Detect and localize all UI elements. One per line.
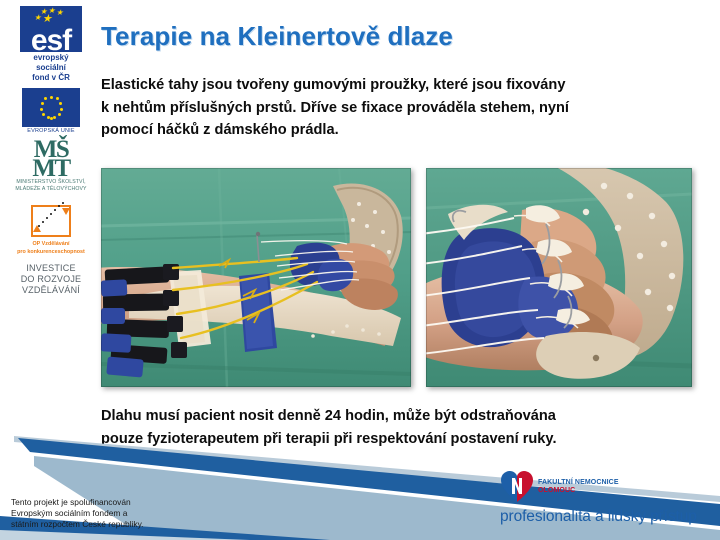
investice-line3: VZDĚLÁVÁNÍ: [8, 285, 94, 296]
intro-line-1: Elastické tahy jsou tvořeny gumovými pro…: [101, 74, 591, 97]
funding-line-3: státním rozpočtem České republiky.: [11, 519, 144, 530]
eu-caption: EVROPSKÁ UNIE: [8, 128, 94, 134]
msmt-caption-line2: MLÁDEŽE A TĚLOVÝCHOVY: [8, 186, 94, 192]
photo-kleinert-splint-hand-detail: [426, 168, 692, 387]
intro-line-3: pomocí háčků z dámského prádla.: [101, 119, 591, 142]
msmt-monogram-icon: MŠ MT: [18, 140, 84, 178]
page-title: Terapie na Kleinertově dlaze: [101, 21, 453, 52]
esf-logo: ★ ★ ★ ★ ★ esf evropský sociální fond v Č…: [8, 6, 94, 82]
closing-line-1: Dlahu musí pacient nosit denně 24 hodin,…: [101, 405, 681, 428]
photo-left-illustration: [101, 168, 411, 387]
closing-line-2: pouze fyzioterapeutem při terapii při re…: [101, 428, 681, 451]
esf-flag-icon: ★ ★ ★ ★ ★ esf: [20, 6, 82, 52]
investice-text-block: INVESTICE DO ROZVOJE VZDĚLÁVÁNÍ: [8, 263, 94, 296]
hospital-logo: FAKULTNÍ NEMOCNICE OLOMOUC profesionalit…: [500, 470, 710, 526]
investice-line1: INVESTICE: [8, 263, 94, 274]
eu-stars-circle: [39, 96, 63, 120]
eu-logo: EVROPSKÁ UNIE: [8, 88, 94, 134]
intro-line-2: k nehtům příslušných prstů. Dříve se fix…: [101, 97, 591, 120]
esf-caption-line3: fond v ČR: [8, 73, 94, 82]
msmt-logo: MŠ MT MINISTERSTVO ŠKOLSTVÍ, MLÁDEŽE A T…: [8, 140, 94, 192]
msmt-mark-line2: MT: [18, 159, 84, 178]
slide-canvas: ★ ★ ★ ★ ★ esf evropský sociální fond v Č…: [0, 0, 720, 540]
sponsor-logo-column: ★ ★ ★ ★ ★ esf evropský sociální fond v Č…: [8, 6, 94, 296]
closing-paragraph: Dlahu musí pacient nosit denně 24 hodin,…: [101, 405, 681, 451]
intro-paragraph: Elastické tahy jsou tvořeny gumovými pro…: [101, 74, 591, 142]
funding-line-1: Tento projekt je spolufinancován: [11, 497, 144, 508]
swoosh-corner-light: [0, 530, 250, 540]
opvk-logo: OP Vzdělávání pro konkurenceschopnost: [8, 199, 94, 256]
esf-caption-line2: sociální: [8, 63, 94, 72]
hospital-name-line1: FAKULTNÍ NEMOCNICE: [538, 479, 619, 487]
eu-flag-icon: [22, 88, 80, 127]
hospital-name-line2: OLOMOUC: [538, 487, 619, 495]
opvk-caption-line2: pro konkurenceschopnost: [8, 249, 94, 255]
esf-caption-line1: evropský: [8, 53, 94, 62]
photo-right-illustration: [426, 168, 692, 387]
esf-wordmark: esf: [20, 26, 82, 52]
photo-kleinert-splint-forearm: [101, 168, 411, 387]
opvk-mark-icon: [27, 199, 75, 239]
funding-line-2: Evropským sociálním fondem a: [11, 508, 144, 519]
hospital-tagline: profesionalita a lidský přístup: [500, 508, 710, 526]
investice-line2: DO ROZVOJE: [8, 274, 94, 285]
hospital-name: FAKULTNÍ NEMOCNICE OLOMOUC: [538, 479, 619, 496]
opvk-caption-line1: OP Vzdělávání: [8, 241, 94, 247]
hospital-heart-icon: [500, 470, 534, 504]
project-funding-note: Tento projekt je spolufinancován Evropsk…: [11, 497, 144, 530]
